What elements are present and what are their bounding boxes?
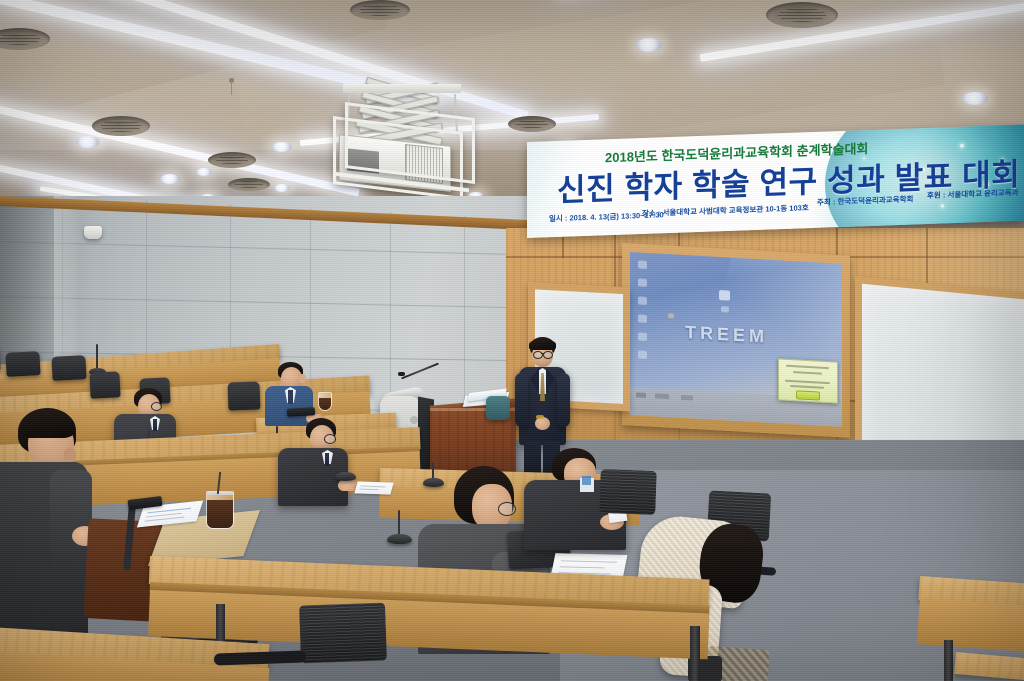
ceiling-air-vent	[92, 116, 150, 136]
paper-cup[interactable]	[318, 392, 332, 411]
desk-leg	[944, 640, 953, 681]
downlight	[272, 142, 292, 152]
front-center-glasses	[498, 502, 516, 516]
downlight	[160, 174, 180, 184]
ceiling-air-vent	[228, 178, 270, 191]
projection-screen: TREEM	[630, 252, 842, 427]
chair-empty[interactable]	[5, 351, 40, 377]
chair-empty[interactable]	[228, 381, 261, 410]
screen-wallpaper-logo: TREEM	[685, 322, 768, 348]
downlight	[962, 92, 988, 105]
attendee-glasses	[151, 402, 162, 411]
downlight	[76, 136, 100, 148]
wall-speaker	[84, 226, 102, 239]
lecture-hall-photo: 2018년도 한국도덕윤리과교육학회 춘계학술대회 신진 학자 학술 연구 성과…	[0, 0, 1024, 681]
ceiling-air-vent	[208, 152, 256, 168]
ceiling-air-vent	[350, 0, 410, 20]
handout-document[interactable]	[354, 481, 393, 494]
projector-assembly	[325, 88, 485, 203]
ceiling-air-vent	[766, 2, 838, 28]
sprinkler-head	[229, 78, 234, 83]
desk-leg	[690, 626, 700, 681]
chair-bottom[interactable]	[299, 603, 387, 664]
downlight	[274, 184, 290, 192]
speaker-glasses	[543, 351, 553, 359]
attendee-center-glasses	[324, 434, 336, 444]
chair-mesh-right[interactable]	[599, 469, 657, 515]
downlight	[636, 38, 662, 52]
downlight	[196, 168, 212, 176]
tablet-device[interactable]	[287, 407, 315, 416]
ceiling-air-vent	[508, 116, 556, 132]
conference-banner: 2018년도 한국도덕윤리과교육학회 춘계학술대회 신진 학자 학술 연구 성과…	[527, 125, 1024, 238]
chair-empty[interactable]	[51, 355, 86, 381]
screen-dialog-button[interactable]	[796, 390, 820, 400]
chair-teal[interactable]	[486, 396, 510, 420]
iced-coffee-cup[interactable]	[206, 491, 234, 529]
screen-dialog-box[interactable]	[778, 358, 838, 403]
